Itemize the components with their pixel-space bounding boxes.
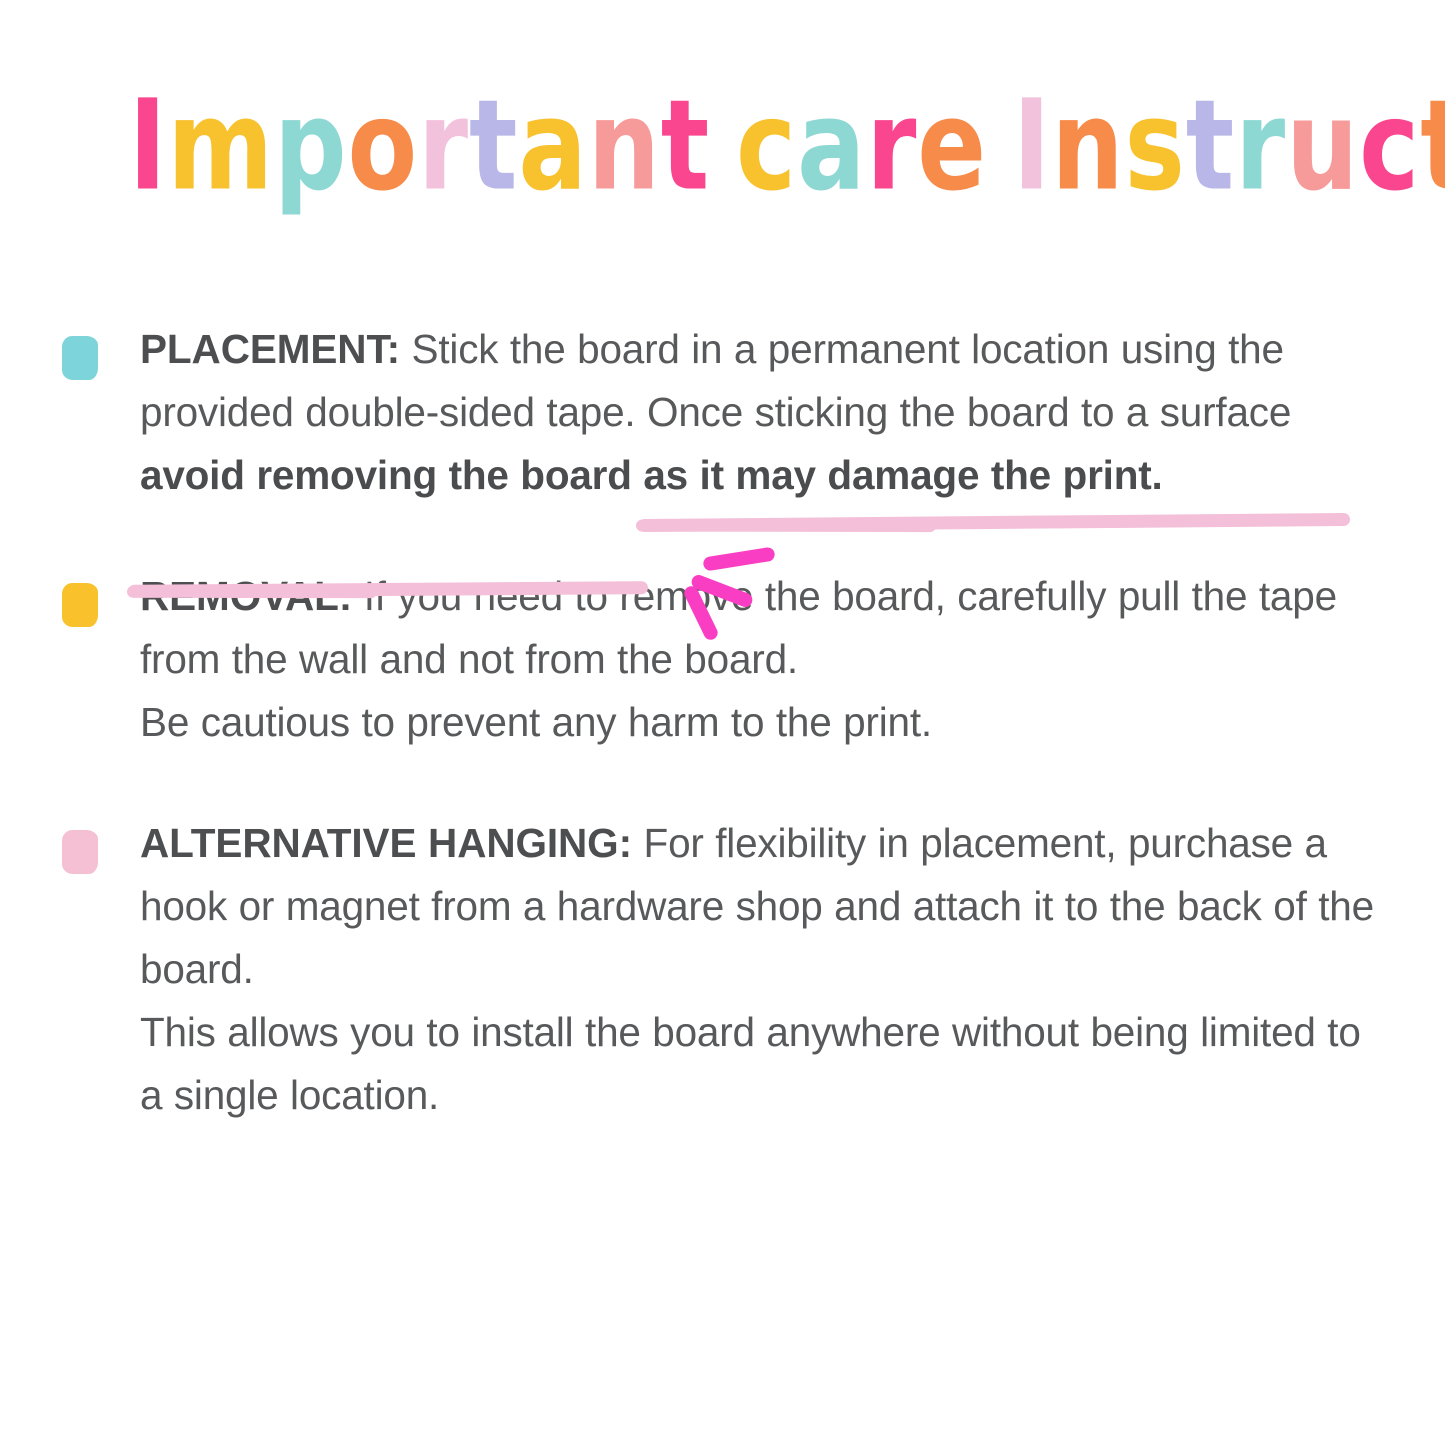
title-letter-17: s xyxy=(1124,82,1185,207)
title-letter-6: a xyxy=(518,82,587,207)
title-letter-20: u xyxy=(1286,82,1359,207)
title-letter-18: t xyxy=(1186,82,1235,207)
title-letter-15: I xyxy=(1013,82,1052,207)
list-item-placement: PLACEMENT: Stick the board in a permanen… xyxy=(62,318,1392,507)
burst-lines-icon xyxy=(655,540,825,665)
list-item-alternative-hanging: ALTERNATIVE HANGING: For flexibility in … xyxy=(62,812,1392,1127)
placement-label: PLACEMENT: xyxy=(140,326,400,372)
title-letter-3: o xyxy=(347,82,418,207)
title-letter-5: t xyxy=(469,82,518,207)
instructions-list: PLACEMENT: Stick the board in a permanen… xyxy=(62,318,1392,1169)
placement-bold-warning: avoid removing the board as it may damag… xyxy=(140,452,1163,498)
title-letter-22: t xyxy=(1420,82,1445,207)
title-letter-11: a xyxy=(797,82,866,207)
removal-label: REMOVAL: xyxy=(140,573,352,619)
title-letter-1: m xyxy=(167,82,274,207)
burst-ray-1 xyxy=(702,546,775,571)
title-letter-4: r xyxy=(418,82,469,207)
placement-body: PLACEMENT: Stick the board in a permanen… xyxy=(140,318,1392,507)
removal-text-line2: Be cautious to prevent any harm to the p… xyxy=(140,699,932,745)
title-letter-8: t xyxy=(661,82,710,207)
title-letter-16: n xyxy=(1051,82,1124,207)
title-letter-10: c xyxy=(736,82,797,207)
alternative-hanging-label: ALTERNATIVE HANGING: xyxy=(140,820,632,866)
bullet-square-icon-removal xyxy=(62,583,98,627)
alternative-hanging-text-line2: This allows you to install the board any… xyxy=(140,1009,1361,1118)
title-letter-12: r xyxy=(866,82,917,207)
title-letter-13: e xyxy=(917,82,987,207)
alternative-hanging-body: ALTERNATIVE HANGING: For flexibility in … xyxy=(140,812,1392,1127)
page-title: ImportantcareInstructions xyxy=(0,86,1445,204)
title-letter-2: p xyxy=(274,82,348,207)
care-instructions-page: ImportantcareInstructions PLACEMENT: Sti… xyxy=(0,0,1445,1445)
title-letter-21: c xyxy=(1359,82,1420,207)
bullet-square-icon-alternative-hanging xyxy=(62,830,98,874)
title-letter-19: r xyxy=(1235,82,1286,207)
page-title-text: ImportantcareInstructions xyxy=(129,82,1445,207)
bullet-square-icon-placement xyxy=(62,336,98,380)
title-letter-0: I xyxy=(129,82,168,207)
title-letter-7: n xyxy=(588,82,661,207)
